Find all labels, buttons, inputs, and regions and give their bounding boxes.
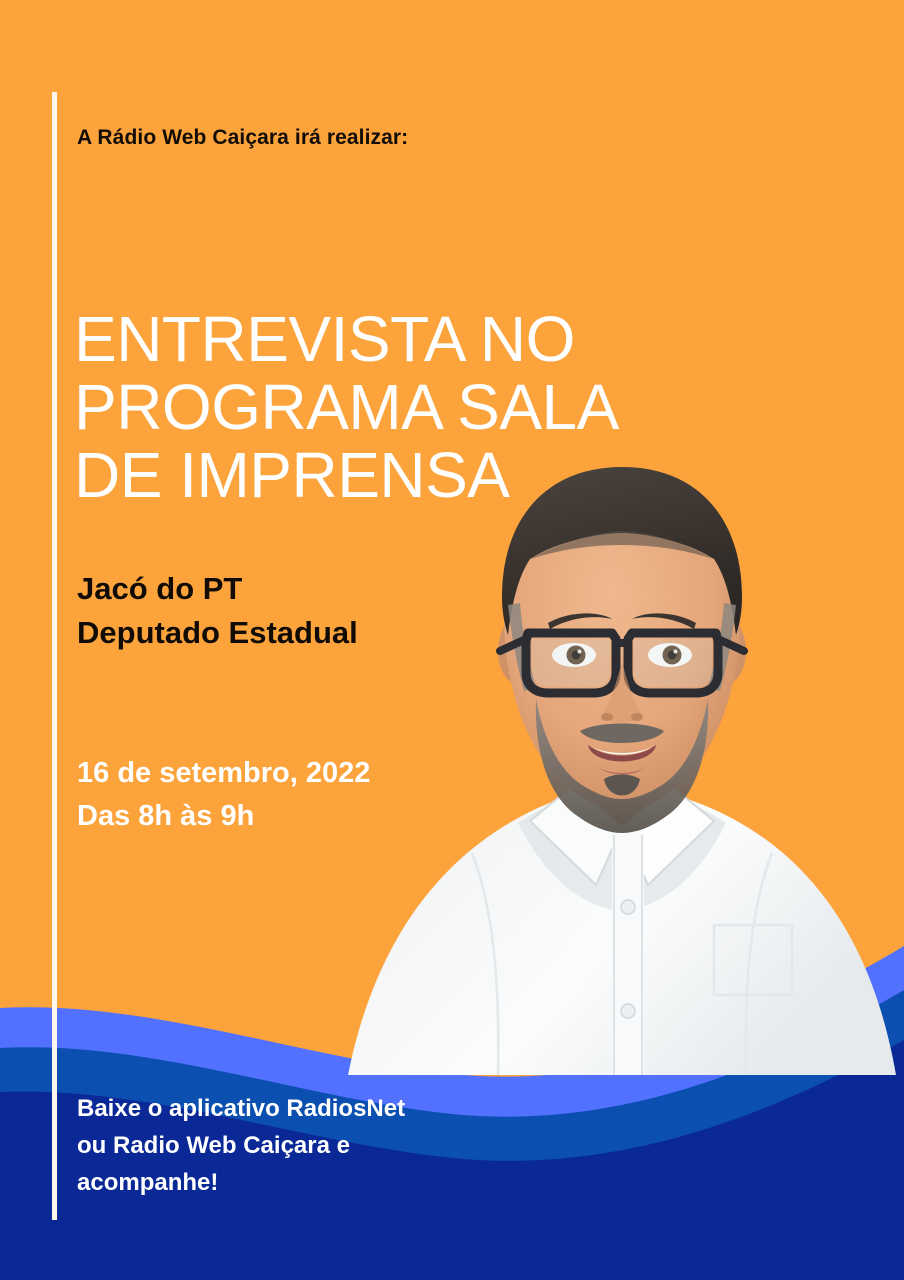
- cta-line-1: Baixe o aplicativo RadiosNet: [77, 1090, 405, 1127]
- page-title: ENTREVISTA NO PROGRAMA SALA DE IMPRENSA: [74, 305, 619, 509]
- cta-line-3: acompanhe!: [77, 1164, 405, 1201]
- speaker-block: Jacó do PT Deputado Estadual: [77, 567, 358, 655]
- poster-canvas: A Rádio Web Caiçara irá realizar: ENTREV…: [0, 0, 904, 1280]
- speaker-name: Jacó do PT: [77, 567, 358, 611]
- intro-text: A Rádio Web Caiçara irá realizar:: [77, 126, 408, 150]
- event-time: Das 8h às 9h: [77, 795, 370, 838]
- headline-line-1: ENTREVISTA NO: [74, 305, 619, 373]
- portrait-photo: [322, 455, 904, 1075]
- speaker-role: Deputado Estadual: [77, 611, 358, 655]
- event-date: 16 de setembro, 2022: [77, 752, 370, 795]
- headline-line-2: PROGRAMA SALA: [74, 373, 619, 441]
- headline-line-3: DE IMPRENSA: [74, 441, 619, 509]
- event-datetime-block: 16 de setembro, 2022 Das 8h às 9h: [77, 752, 370, 838]
- left-vertical-rule: [52, 92, 57, 1220]
- call-to-action-block: Baixe o aplicativo RadiosNet ou Radio We…: [77, 1090, 405, 1201]
- cta-line-2: ou Radio Web Caiçara e: [77, 1127, 405, 1164]
